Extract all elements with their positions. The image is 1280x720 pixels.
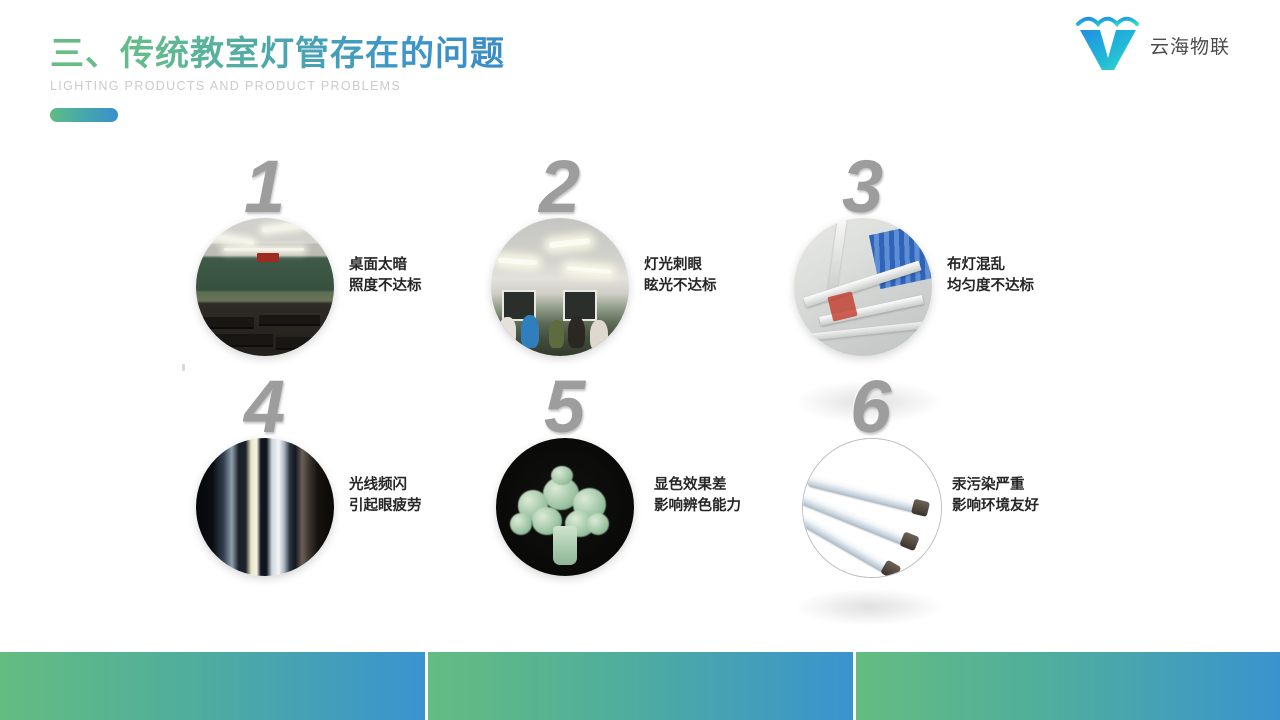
brand-logo: 云海物联: [1074, 16, 1264, 78]
v-wave-logo-icon: [1074, 16, 1142, 72]
item-number-4: 4: [244, 370, 285, 444]
item-6-bottom-shadow: [794, 588, 944, 626]
item-caption-2-line2: 眩光不达标: [644, 276, 717, 297]
tube-end-cap: [911, 499, 930, 517]
page-subtitle: LIGHTING PRODUCTS AND PRODUCT PROBLEMS: [50, 79, 401, 93]
item-caption-6: 汞污染严重 影响环境友好: [952, 475, 1039, 517]
classroom-glare-students-photo: [491, 218, 629, 356]
footer-gradient-bars: [0, 652, 1280, 720]
item-caption-6-line2: 影响环境友好: [952, 496, 1039, 517]
item-caption-5-line1: 显色效果差: [654, 475, 741, 496]
light-flicker-stripes-photo: [196, 438, 334, 576]
item-caption-3-line1: 布灯混乱: [947, 255, 1034, 276]
item-number-3: 3: [842, 150, 883, 224]
title-accent-bar: [50, 108, 118, 122]
slide-header: 三、传统教室灯管存在的问题 LIGHTING PRODUCTS AND PROD…: [0, 0, 1280, 140]
item-image-4: [196, 438, 334, 576]
item-caption-1: 桌面太暗 照度不达标: [349, 255, 422, 297]
page-title: 三、传统教室灯管存在的问题: [50, 26, 505, 75]
item-caption-6-line1: 汞污染严重: [952, 475, 1039, 496]
item-image-6: [802, 438, 942, 578]
item-image-1: [196, 218, 334, 356]
tube-end-cap: [899, 531, 919, 551]
item-caption-2-line1: 灯光刺眼: [644, 255, 717, 276]
item-caption-2: 灯光刺眼 眩光不达标: [644, 255, 717, 297]
item-image-2: [491, 218, 629, 356]
item-caption-4-line2: 引起眼疲劳: [349, 496, 422, 517]
item-caption-3: 布灯混乱 均匀度不达标: [947, 255, 1034, 297]
item-caption-1-line2: 照度不达标: [349, 276, 422, 297]
fluorescent-tubes-photo: [803, 439, 941, 577]
item-caption-4: 光线频闪 引起眼疲劳: [349, 475, 422, 517]
footer-bar-3: [856, 652, 1280, 720]
item-image-5: [496, 438, 634, 576]
item-caption-1-line1: 桌面太暗: [349, 255, 422, 276]
messy-light-fixtures-photo: [794, 218, 932, 356]
item-image-3: [794, 218, 932, 356]
item-caption-4-line1: 光线频闪: [349, 475, 422, 496]
desaturated-flowers-photo: [496, 438, 634, 576]
item-number-6: 6: [850, 370, 891, 444]
tube-end-cap: [880, 560, 901, 578]
item-caption-5-line2: 影响辨色能力: [654, 496, 741, 517]
item-number-5: 5: [544, 370, 585, 444]
footer-bar-2: [428, 652, 853, 720]
item-caption-3-line2: 均匀度不达标: [947, 276, 1034, 297]
item-caption-5: 显色效果差 影响辨色能力: [654, 475, 741, 517]
logo-text: 云海物联: [1150, 32, 1230, 59]
classroom-dark-chalkboard-photo: [196, 218, 334, 356]
item-number-2: 2: [539, 150, 580, 224]
item-number-1: 1: [244, 150, 285, 224]
footer-bar-1: [0, 652, 425, 720]
decorative-dot: [182, 364, 185, 371]
